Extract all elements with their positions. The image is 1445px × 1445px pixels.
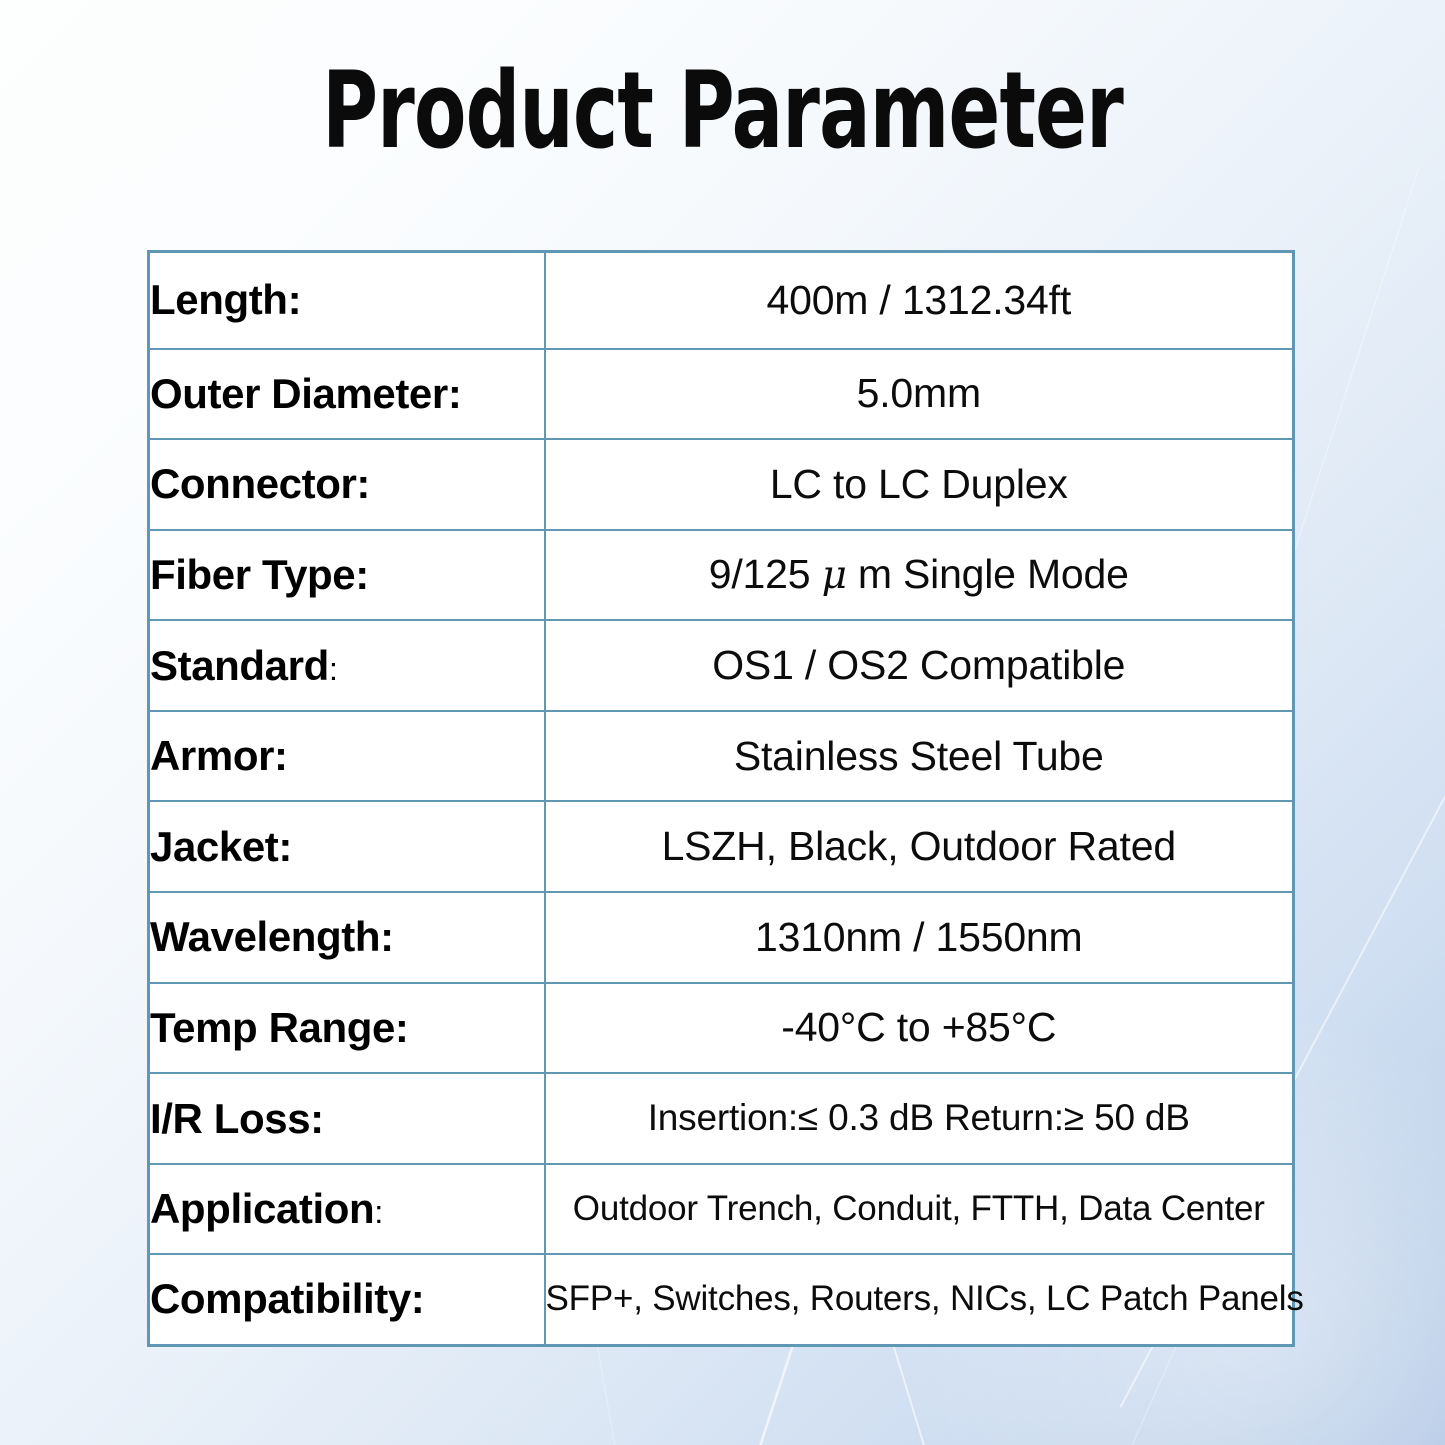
spec-value-length: 400m / 1312.34ft	[545, 252, 1294, 349]
spec-label-standard: Standard:	[149, 620, 545, 711]
spec-value-outer-diameter: 5.0mm	[545, 349, 1294, 440]
spec-table-body: Length: 400m / 1312.34ft Outer Diameter:…	[149, 252, 1294, 1346]
spec-value-compatibility: SFP+, Switches, Routers, NICs, LC Patch …	[545, 1254, 1294, 1345]
label-colon: :	[374, 1193, 383, 1230]
table-row: Connector: LC to LC Duplex	[149, 439, 1294, 530]
spec-label-wavelength: Wavelength:	[149, 892, 545, 983]
spec-value-ir-loss: Insertion:≤ 0.3 dB Return:≥ 50 dB	[545, 1073, 1294, 1164]
table-row: I/R Loss: Insertion:≤ 0.3 dB Return:≥ 50…	[149, 1073, 1294, 1164]
table-row: Jacket: LSZH, Black, Outdoor Rated	[149, 801, 1294, 892]
table-row: Temp Range: -40°C to +85°C	[149, 983, 1294, 1074]
page-title: Product Parameter	[145, 52, 1301, 170]
product-parameter-page: Product Parameter Length: 400m / 1312.34…	[0, 0, 1445, 1445]
spec-label-ir-loss: I/R Loss:	[149, 1073, 545, 1164]
spec-label-application: Application:	[149, 1164, 545, 1255]
table-row: Application: Outdoor Trench, Conduit, FT…	[149, 1164, 1294, 1255]
table-row: Fiber Type: 9/125 μ m Single Mode	[149, 530, 1294, 621]
spec-value-application: Outdoor Trench, Conduit, FTTH, Data Cent…	[545, 1164, 1294, 1255]
table-row: Wavelength: 1310nm / 1550nm	[149, 892, 1294, 983]
spec-label-armor: Armor:	[149, 711, 545, 802]
spec-value-jacket: LSZH, Black, Outdoor Rated	[545, 801, 1294, 892]
table-row: Armor: Stainless Steel Tube	[149, 711, 1294, 802]
micro-symbol: μ	[822, 553, 847, 598]
table-row: Compatibility: SFP+, Switches, Routers, …	[149, 1254, 1294, 1345]
spec-label-connector: Connector:	[149, 439, 545, 530]
spec-label-temp-range: Temp Range:	[149, 983, 545, 1074]
spec-label-outer-diameter: Outer Diameter:	[149, 349, 545, 440]
spec-label-fiber-type: Fiber Type:	[149, 530, 545, 621]
spec-value-connector: LC to LC Duplex	[545, 439, 1294, 530]
spec-value-armor: Stainless Steel Tube	[545, 711, 1294, 802]
table-row: Standard: OS1 / OS2 Compatible	[149, 620, 1294, 711]
spec-table: Length: 400m / 1312.34ft Outer Diameter:…	[147, 250, 1295, 1347]
spec-label-compatibility: Compatibility:	[149, 1254, 545, 1345]
spec-value-temp-range: -40°C to +85°C	[545, 983, 1294, 1074]
table-row: Outer Diameter: 5.0mm	[149, 349, 1294, 440]
table-row: Length: 400m / 1312.34ft	[149, 252, 1294, 349]
spec-value-standard: OS1 / OS2 Compatible	[545, 620, 1294, 711]
spec-label-length: Length:	[149, 252, 545, 349]
spec-value-wavelength: 1310nm / 1550nm	[545, 892, 1294, 983]
label-colon: :	[329, 650, 338, 687]
spec-label-jacket: Jacket:	[149, 801, 545, 892]
spec-value-fiber-type: 9/125 μ m Single Mode	[545, 530, 1294, 621]
